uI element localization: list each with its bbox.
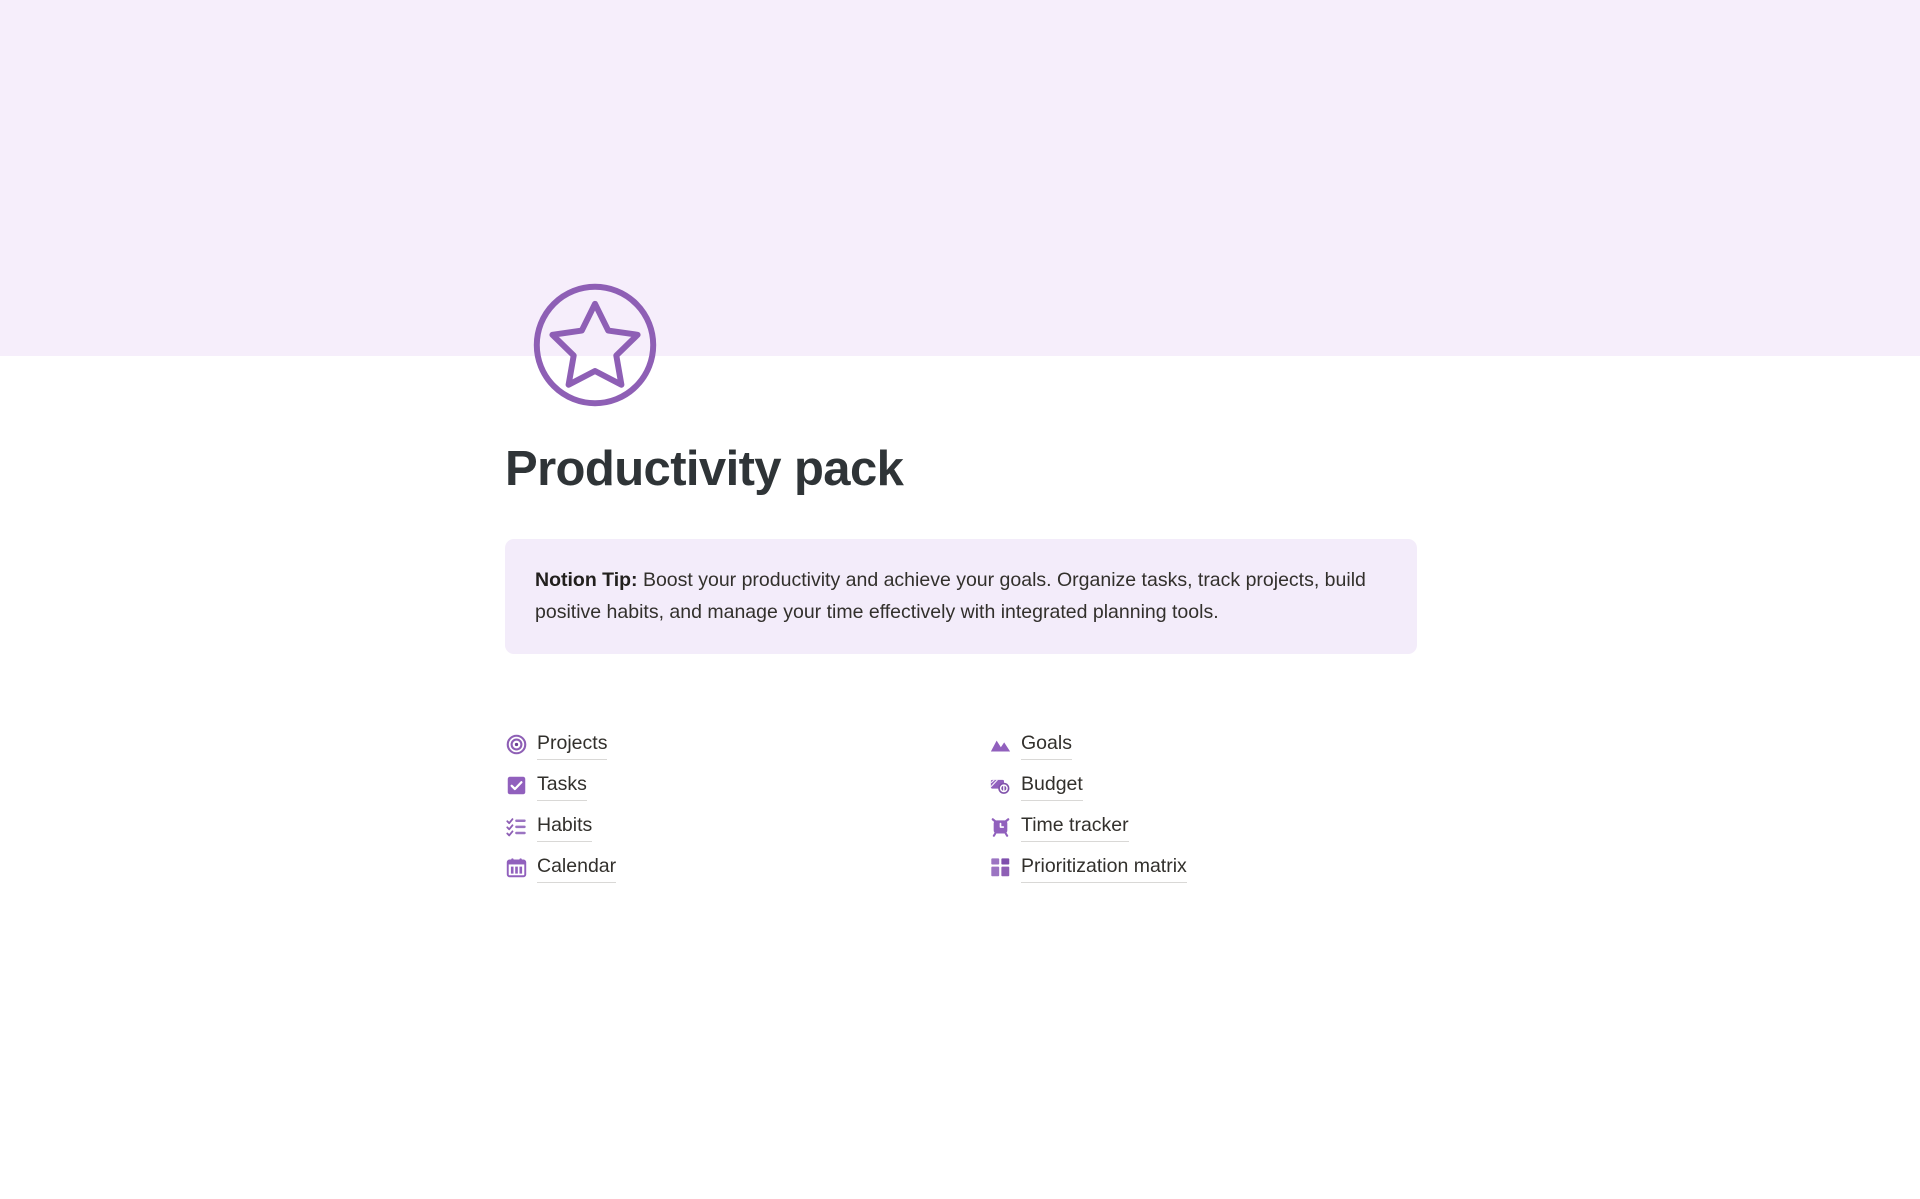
link-habits[interactable]: Habits [537,812,592,842]
link-calendar[interactable]: Calendar [537,853,616,883]
list-item[interactable]: Goals [989,724,1417,765]
list-item[interactable]: Calendar [505,847,989,888]
link-columns: Projects Tasks [505,724,1417,888]
list-item[interactable]: Prioritization matrix [989,847,1417,888]
calendar-icon [505,857,527,879]
callout-label: Notion Tip: [535,569,638,591]
link-column-left: Projects Tasks [505,724,989,888]
list-item[interactable]: Projects [505,724,989,765]
page-content: Productivity pack Notion Tip: Boost your… [505,440,1417,888]
callout-block: Notion Tip: Boost your productivity and … [505,539,1417,654]
list-item[interactable]: Habits [505,806,989,847]
page-cover [0,0,1920,356]
star-in-circle-icon[interactable] [524,274,666,416]
link-goals[interactable]: Goals [1021,730,1072,760]
list-item[interactable]: Time tracker [989,806,1417,847]
mountains-icon [989,734,1011,756]
link-time-tracker[interactable]: Time tracker [1021,812,1129,842]
grid-quadrant-icon [989,857,1011,879]
link-column-right: Goals Budget [989,724,1417,888]
target-icon [505,734,527,756]
callout-body: Boost your productivity and achieve your… [535,569,1366,623]
callout-text: Notion Tip: Boost your productivity and … [535,564,1387,628]
page-title: Productivity pack [505,440,1417,498]
alarm-clock-icon [989,816,1011,838]
list-item[interactable]: Tasks [505,765,989,806]
notion-page: Productivity pack Notion Tip: Boost your… [0,0,1920,1199]
link-tasks[interactable]: Tasks [537,771,587,801]
checklist-icon [505,816,527,838]
link-projects[interactable]: Projects [537,730,607,760]
checkbox-checked-icon [505,775,527,797]
link-prioritization-matrix[interactable]: Prioritization matrix [1021,853,1187,883]
list-item[interactable]: Budget [989,765,1417,806]
money-coin-icon [989,775,1011,797]
link-budget[interactable]: Budget [1021,771,1083,801]
